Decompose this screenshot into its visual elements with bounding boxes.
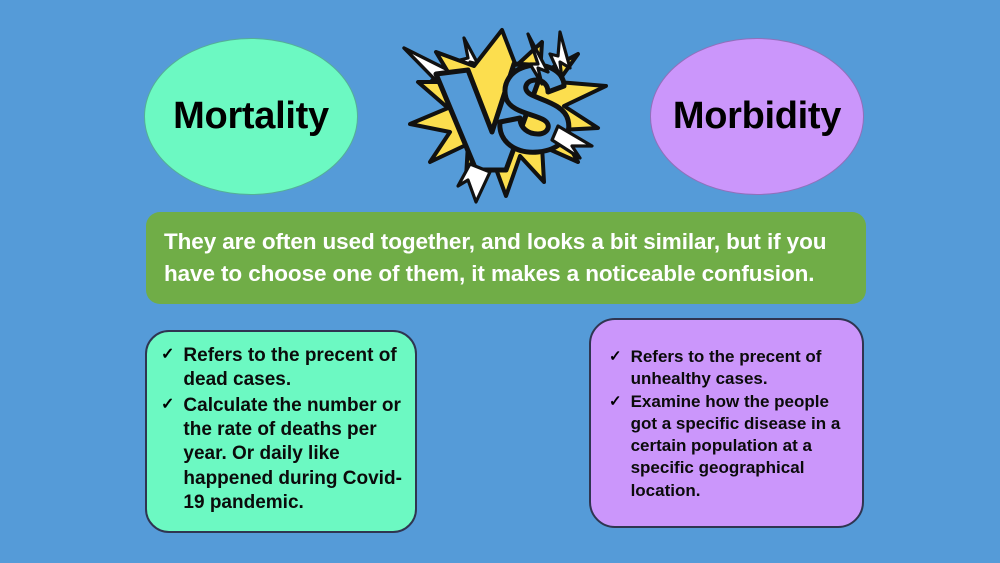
bullet-box-mortality: ✓ Refers to the precent of dead cases. ✓…	[145, 330, 417, 533]
title-label-mortality: Mortality	[173, 95, 329, 138]
bullet-list-mortality: ✓ Refers to the precent of dead cases. ✓…	[161, 344, 405, 515]
list-item: ✓ Refers to the precent of dead cases.	[161, 344, 405, 393]
list-item: ✓ Calculate the number or the rate of de…	[161, 394, 405, 516]
title-ellipse-morbidity: Morbidity	[650, 38, 864, 195]
description-banner: They are often used together, and looks …	[146, 212, 866, 304]
bullet-text: Refers to the precent of unhealthy cases…	[631, 346, 852, 390]
check-icon: ✓	[609, 346, 622, 364]
vs-burst-icon	[392, 20, 616, 212]
list-item: ✓ Refers to the precent of unhealthy cas…	[609, 346, 852, 390]
list-item: ✓ Examine how the people got a specific …	[609, 391, 852, 501]
check-icon: ✓	[161, 344, 174, 363]
title-label-morbidity: Morbidity	[673, 95, 841, 138]
bullet-box-morbidity: ✓ Refers to the precent of unhealthy cas…	[589, 318, 864, 528]
bullet-text: Refers to the precent of dead cases.	[183, 344, 405, 393]
slide-canvas: Mortality Morbidity They are ofte	[0, 0, 1000, 563]
bullet-text: Calculate the number or the rate of deat…	[183, 394, 405, 516]
check-icon: ✓	[609, 391, 622, 409]
bullet-text: Examine how the people got a specific di…	[631, 391, 852, 501]
title-ellipse-mortality: Mortality	[144, 38, 358, 195]
bullet-list-morbidity: ✓ Refers to the precent of unhealthy cas…	[609, 346, 852, 502]
banner-text: They are often used together, and looks …	[164, 226, 848, 290]
check-icon: ✓	[161, 394, 174, 413]
